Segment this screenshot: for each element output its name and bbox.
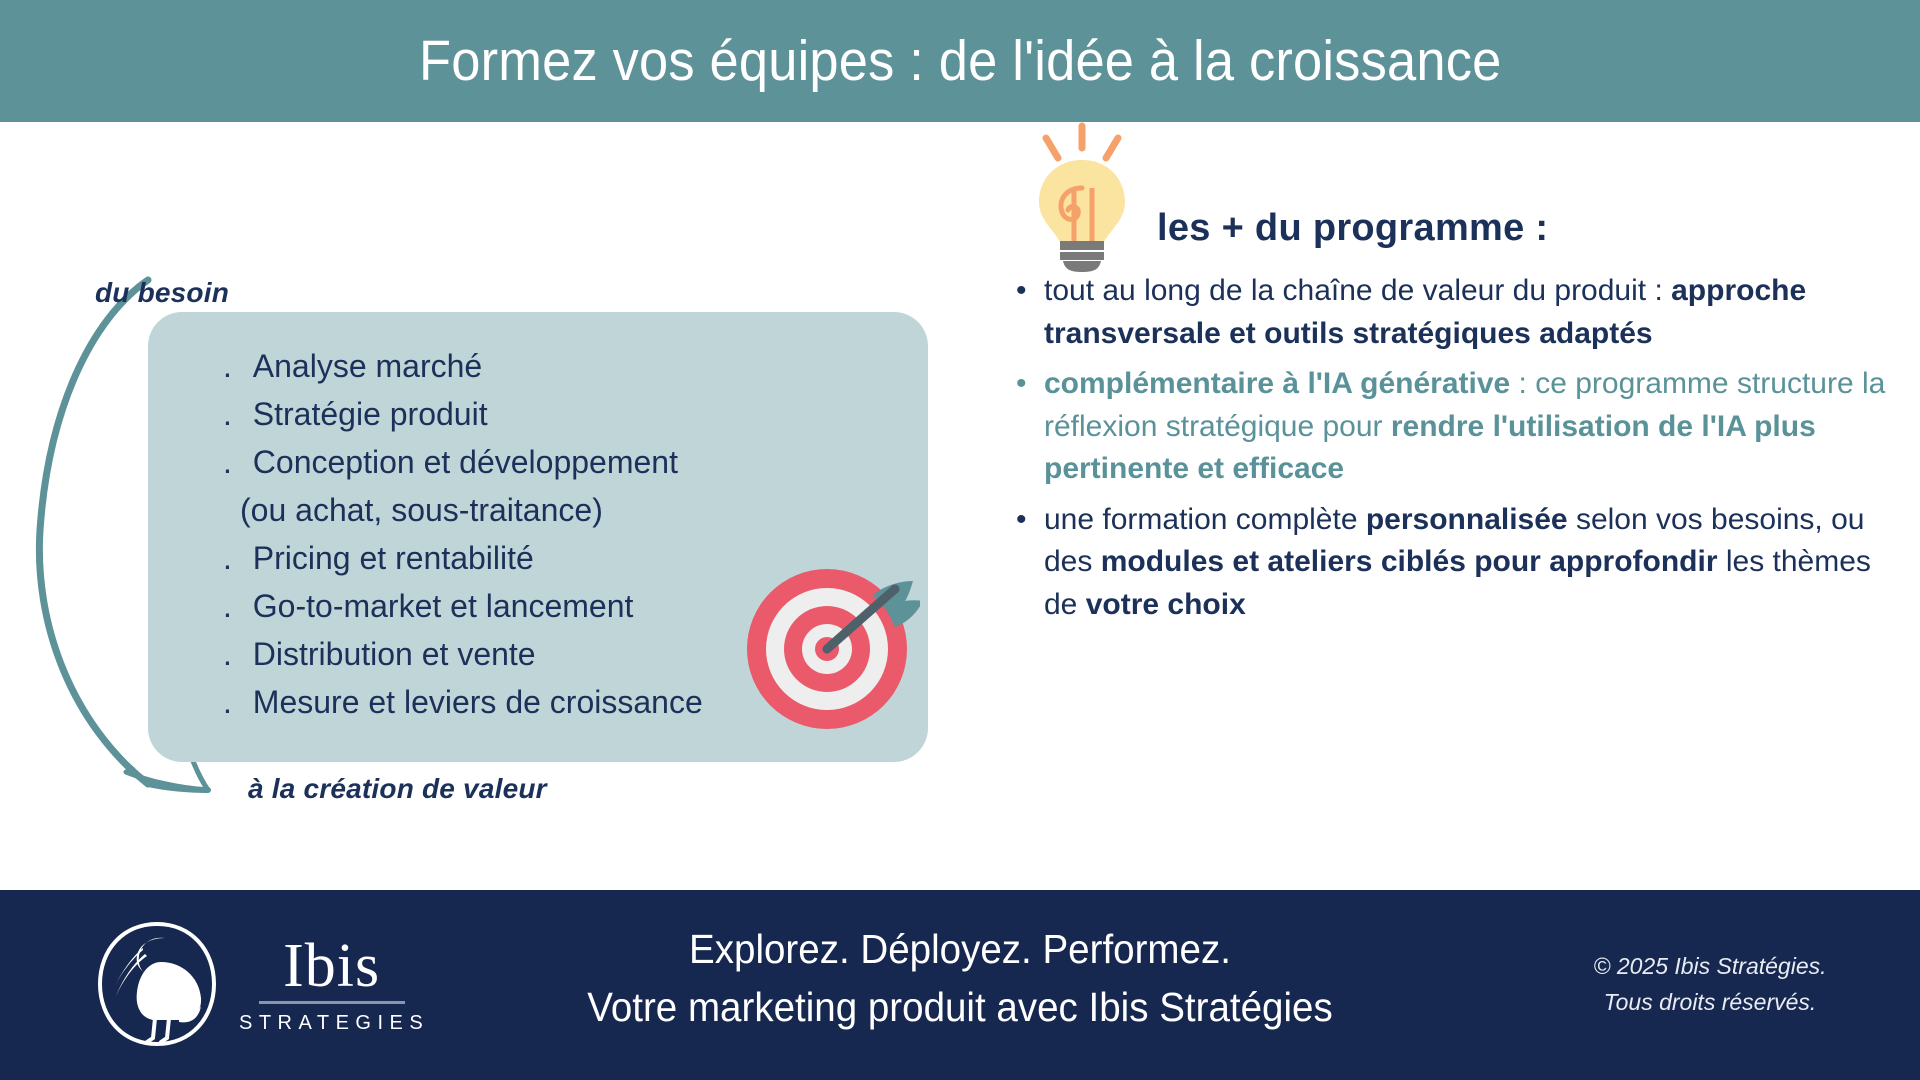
program-benefits-header: les + du programme : bbox=[1030, 122, 1548, 272]
step-item: (ou achat, sous-traitance) bbox=[223, 486, 923, 534]
step-bullet-icon: . bbox=[223, 348, 253, 384]
step-label: (ou achat, sous-traitance) bbox=[240, 492, 603, 528]
header-banner: Formez vos équipes : de l'idée à la croi… bbox=[0, 0, 1920, 122]
bullet-point-icon: • bbox=[1016, 270, 1027, 313]
copyright-line-1: © 2025 Ibis Stratégies. bbox=[1530, 948, 1890, 984]
bullet-point-icon: • bbox=[1016, 363, 1027, 406]
step-bullet-icon: . bbox=[223, 636, 253, 672]
step-label: Go-to-market et lancement bbox=[253, 588, 634, 624]
benefit-item: •complémentaire à l'IA générative : ce p… bbox=[1000, 363, 1900, 491]
benefits-list: •tout au long de la chaîne de valeur du … bbox=[1000, 270, 1900, 634]
benefit-item: •tout au long de la chaîne de valeur du … bbox=[1000, 270, 1900, 355]
step-label: Analyse marché bbox=[253, 348, 482, 384]
step-item: . Analyse marché bbox=[223, 342, 923, 390]
step-bullet-icon: . bbox=[223, 444, 253, 480]
step-bullet-icon: . bbox=[223, 540, 253, 576]
label-creation-de-valeur: à la création de valeur bbox=[248, 773, 547, 805]
slide-root: Formez vos équipes : de l'idée à la croi… bbox=[0, 0, 1920, 1080]
step-label: Pricing et rentabilité bbox=[253, 540, 534, 576]
benefit-emphasis: votre choix bbox=[1086, 588, 1246, 621]
step-bullet-icon: . bbox=[223, 684, 253, 720]
bullet-point-icon: • bbox=[1016, 499, 1027, 542]
right-column: les + du programme : •tout au long de la… bbox=[980, 122, 1920, 890]
footer-bar: Ibis STRATEGIES Explorez. Déployez. Perf… bbox=[0, 890, 1920, 1080]
target-arrow-icon bbox=[745, 559, 920, 734]
copyright-notice: © 2025 Ibis Stratégies. Tous droits rése… bbox=[1530, 948, 1890, 1020]
left-column: du besoin . Analyse marché. Stratégie pr… bbox=[0, 122, 980, 890]
step-label: Mesure et leviers de croissance bbox=[253, 684, 703, 720]
step-bullet-icon: . bbox=[223, 396, 253, 432]
step-label: Distribution et vente bbox=[253, 636, 536, 672]
label-du-besoin: du besoin bbox=[95, 277, 229, 309]
benefit-item: •une formation complète personnalisée se… bbox=[1000, 499, 1900, 627]
step-item: . Stratégie produit bbox=[223, 390, 923, 438]
benefit-emphasis: personnalisée bbox=[1366, 503, 1568, 536]
copyright-line-2: Tous droits réservés. bbox=[1530, 984, 1890, 1020]
step-bullet-icon: . bbox=[223, 588, 253, 624]
benefit-emphasis: modules et ateliers ciblés pour approfon… bbox=[1101, 545, 1718, 578]
step-item: . Conception et développement bbox=[223, 438, 923, 486]
benefit-emphasis: complémentaire à l'IA générative bbox=[1044, 367, 1510, 400]
step-label: Conception et développement bbox=[253, 444, 678, 480]
step-label: Stratégie produit bbox=[253, 396, 488, 432]
benefit-text: une formation complète bbox=[1044, 503, 1366, 536]
benefits-title: les + du programme : bbox=[1157, 207, 1548, 272]
benefit-text: tout au long de la chaîne de valeur du p… bbox=[1044, 274, 1671, 307]
lightbulb-icon bbox=[1030, 122, 1135, 272]
page-title: Formez vos équipes : de l'idée à la croi… bbox=[419, 33, 1501, 90]
